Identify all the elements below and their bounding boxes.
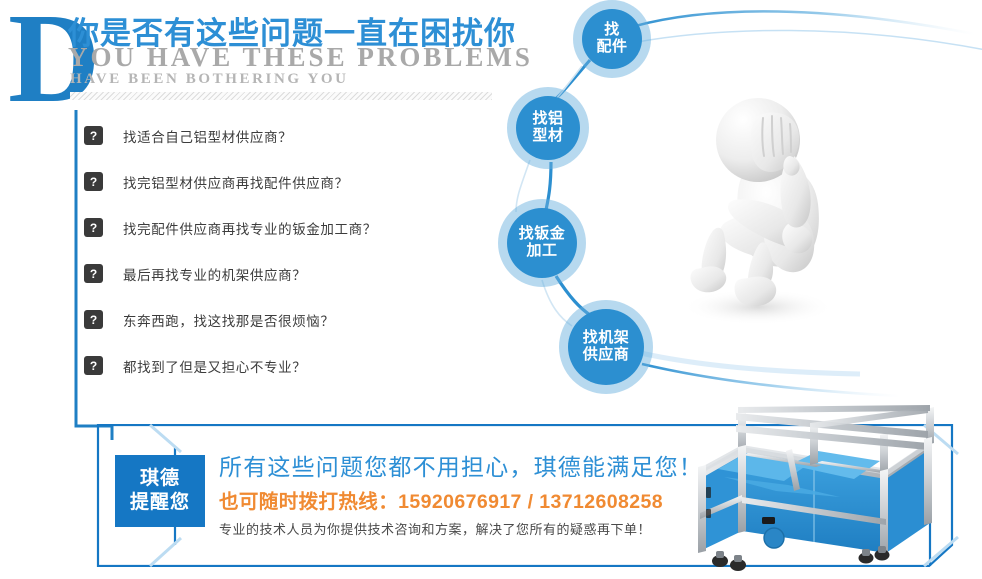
node-line-2: 供应商: [583, 347, 630, 364]
list-item-label: 找完配件供应商再找专业的钣金加工商？: [123, 218, 377, 238]
list-item-label: 最后再找专业的机架供应商？: [123, 264, 306, 284]
hotline-label: 也可随时拨打热线：: [219, 491, 398, 513]
poster-canvas: D 你是否有这些问题一直在困扰你 YOU HAVE THESE PROBLEMS…: [0, 0, 982, 579]
list-item: ? 找完铝型材供应商再找配件供应商？: [84, 170, 484, 193]
node-line-2: 型材: [532, 128, 563, 145]
node-line-2: 配件: [596, 39, 627, 56]
list-item-label: 找适合自己铝型材供应商？: [123, 126, 292, 146]
question-mark-icon: ?: [84, 356, 103, 375]
hotline-numbers[interactable]: 15920676917 / 13712608258: [398, 491, 663, 513]
question-mark-icon: ?: [84, 264, 103, 283]
list-item: ? 找适合自己铝型材供应商？: [84, 124, 484, 147]
question-mark-icon: ?: [84, 218, 103, 237]
diagram-node-find-frame: 找机架 供应商: [568, 309, 644, 385]
product-photo: [690, 405, 960, 573]
node-line-2: 加工: [526, 243, 557, 260]
list-item-label: 都找到了但是又担心不专业？: [123, 356, 306, 376]
diagram-node-find-aluminum: 找铝 型材: [516, 96, 580, 160]
brand-reminder-badge: 琪德 提醒您: [115, 455, 205, 527]
list-item: ? 最后再找专业的机架供应商？: [84, 262, 484, 285]
question-mark-icon: ?: [84, 126, 103, 145]
banner-hotline: 也可随时拨打热线：15920676917 / 13712608258: [219, 485, 663, 514]
banner-headline: 所有这些问题您都不用担心，琪德能满足您！: [219, 448, 703, 482]
diagram-node-find-sheetmetal: 找钣金 加工: [507, 208, 577, 278]
node-line-1: 找机架: [583, 330, 630, 347]
question-mark-icon: ?: [84, 172, 103, 191]
thinking-person-illustration: [662, 72, 852, 362]
node-line-1: 找铝: [532, 111, 563, 128]
question-mark-icon: ?: [84, 310, 103, 329]
badge-line-2: 提醒您: [130, 491, 190, 515]
diagram-node-find-parts: 找 配件: [582, 9, 642, 69]
list-item: ? 找完配件供应商再找专业的钣金加工商？: [84, 216, 484, 239]
hatched-divider: [70, 92, 492, 100]
node-line-1: 找钣金: [519, 226, 566, 243]
problem-list: ? 找适合自己铝型材供应商？ ? 找完铝型材供应商再找配件供应商？ ? 找完配件…: [84, 124, 484, 400]
list-item: ? 都找到了但是又担心不专业？: [84, 354, 484, 377]
node-line-1: 找: [604, 22, 620, 39]
list-item: ? 东奔西跑，找这找那是否很烦恼？: [84, 308, 484, 331]
list-item-label: 东奔西跑，找这找那是否很烦恼？: [123, 310, 335, 330]
badge-line-1: 琪德: [140, 467, 180, 491]
banner-subtext: 专业的技术人员为你提供技术咨询和方案，解决了您所有的疑惑再下单！: [219, 519, 651, 538]
page-subtitle-line2: HAVE BEEN BOTHERING YOU: [70, 71, 349, 88]
list-item-label: 找完铝型材供应商再找配件供应商？: [123, 172, 349, 192]
